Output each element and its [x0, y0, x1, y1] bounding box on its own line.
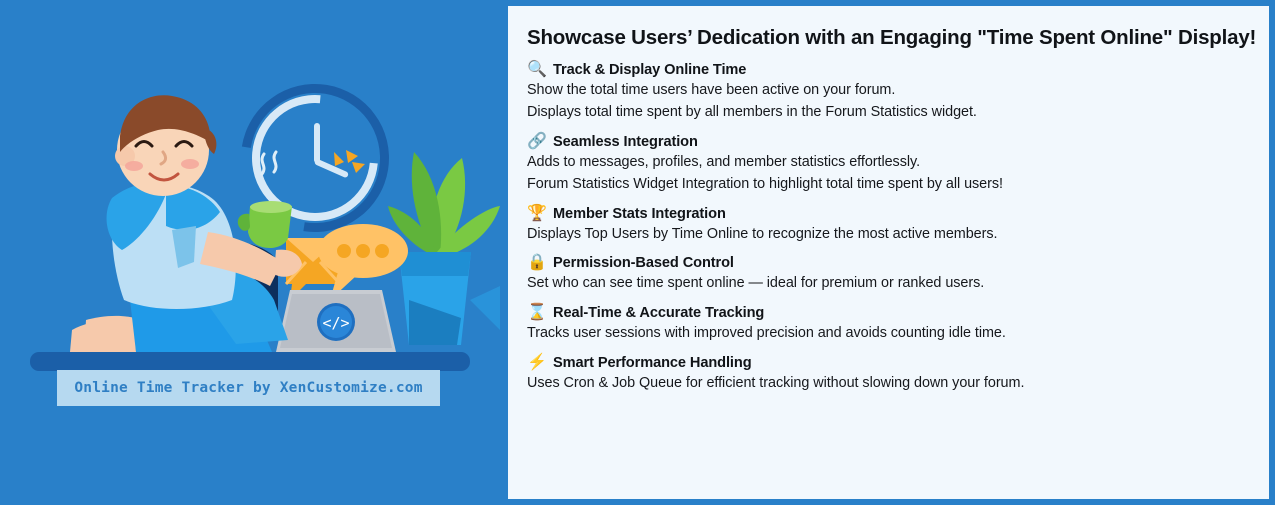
feature-description-line: Tracks user sessions with improved preci… [527, 323, 1269, 345]
feature-item: 🔒 Permission-Based Control Set who can s… [527, 255, 1269, 295]
feature-item: 🔍 Track & Display Online Time Show the t… [527, 62, 1269, 124]
feature-description-line: Set who can see time spent online — idea… [527, 273, 1269, 295]
magnifying-glass-icon: 🔍 [527, 62, 546, 78]
feature-item: 🔗 Seamless Integration Adds to messages,… [527, 134, 1269, 196]
feature-title: Seamless Integration [553, 134, 698, 150]
feature-item: ⌛ Real-Time & Accurate Tracking Tracks u… [527, 305, 1269, 345]
feature-title: Smart Performance Handling [553, 355, 752, 371]
speech-bubble-icon [318, 224, 408, 300]
trophy-icon: 🏆 [527, 206, 546, 222]
desk-graphic [30, 352, 470, 371]
lock-icon: 🔒 [527, 255, 546, 271]
hourglass-icon: ⌛ [527, 305, 546, 321]
svg-text:</>: </> [322, 314, 349, 332]
link-icon: 🔗 [527, 134, 546, 150]
coffee-cup-graphic [238, 152, 292, 248]
feature-item: 🏆 Member Stats Integration Displays Top … [527, 206, 1269, 246]
feature-description-line: Show the total time users have been acti… [527, 80, 1269, 102]
feature-description-line: Displays total time spent by all members… [527, 102, 1269, 124]
feature-header: ⚡ Smart Performance Handling [527, 355, 1269, 371]
feature-header: ⌛ Real-Time & Accurate Tracking [527, 305, 1269, 321]
caption-text: Online Time Tracker by XenCustomize.com [57, 370, 440, 406]
feature-description-line: Adds to messages, profiles, and member s… [527, 152, 1269, 174]
feature-title: Real-Time & Accurate Tracking [553, 305, 764, 321]
feature-title: Member Stats Integration [553, 206, 726, 222]
feature-title: Track & Display Online Time [553, 62, 746, 78]
scene-graphic: </> [0, 0, 500, 505]
feature-description-line: Displays Top Users by Time Online to rec… [527, 224, 1269, 246]
feature-header: 🔒 Permission-Based Control [527, 255, 1269, 271]
feature-header: 🔗 Seamless Integration [527, 134, 1269, 150]
feature-title: Permission-Based Control [553, 255, 734, 271]
content-panel: Showcase Users’ Dedication with an Engag… [500, 0, 1275, 505]
promo-banner: </> [0, 0, 1275, 505]
feature-item: ⚡ Smart Performance Handling Uses Cron &… [527, 355, 1269, 395]
illustration-panel: </> [0, 0, 500, 505]
feature-header: 🔍 Track & Display Online Time [527, 62, 1269, 78]
page-title: Showcase Users’ Dedication with an Engag… [527, 26, 1269, 50]
feature-description-line: Uses Cron & Job Queue for efficient trac… [527, 373, 1269, 395]
feature-description-line: Forum Statistics Widget Integration to h… [527, 174, 1269, 196]
lightning-bolt-icon: ⚡ [527, 355, 546, 371]
feature-header: 🏆 Member Stats Integration [527, 206, 1269, 222]
